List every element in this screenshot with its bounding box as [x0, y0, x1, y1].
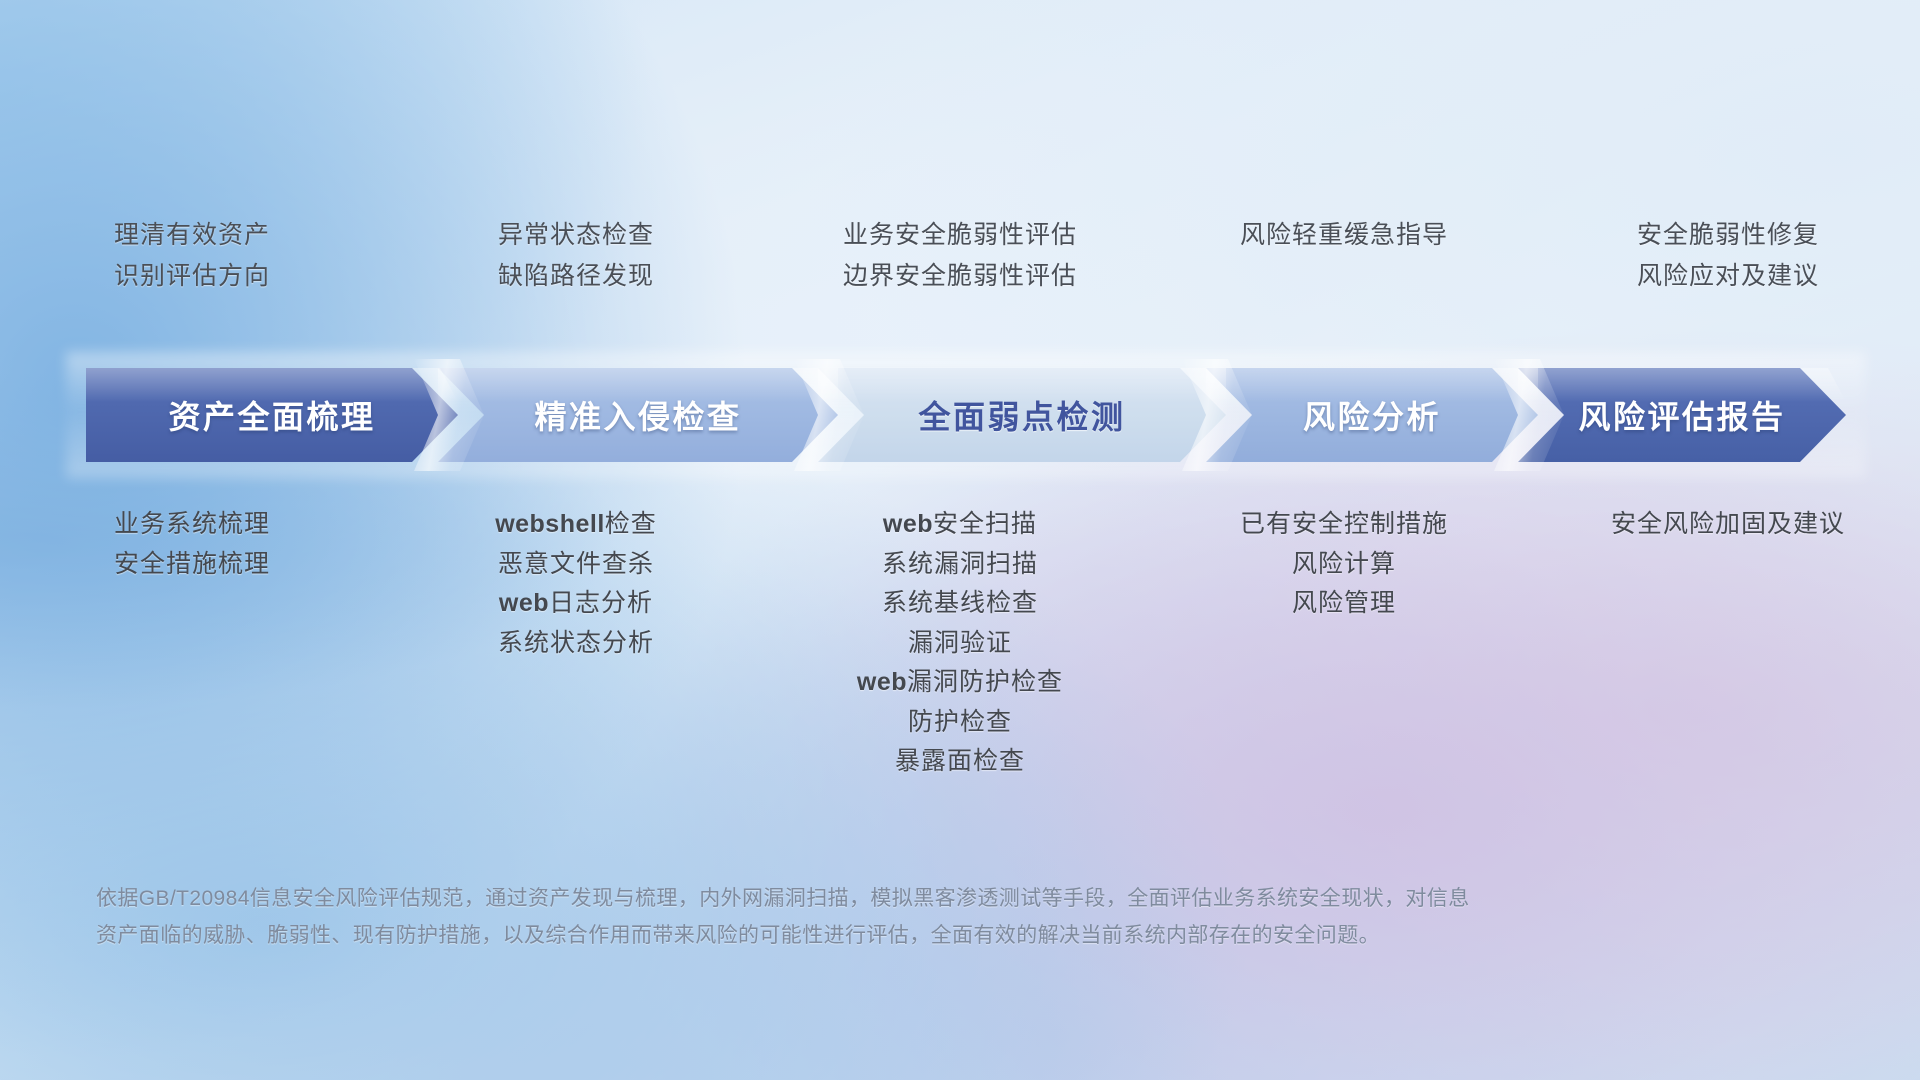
top-item: 异常状态检查 [498, 215, 654, 256]
stage-label: 风险分析 [1303, 392, 1441, 438]
bottom-col-5: 安全风险加固及建议 [1536, 505, 1920, 545]
top-label-row: 理清有效资产 识别评估方向 异常状态检查 缺陷路径发现 业务安全脆弱性评估 边界… [0, 215, 1920, 315]
stage-chevron-2[interactable]: 精准入侵检查 [438, 368, 838, 462]
top-col-3: 业务安全脆弱性评估 边界安全脆弱性评估 [768, 215, 1152, 315]
stage-label: 资产全面梳理 [168, 392, 375, 438]
stage-label: 风险评估报告 [1578, 392, 1785, 438]
top-col-1: 理清有效资产 识别评估方向 [0, 215, 384, 315]
top-item: 边界安全脆弱性评估 [843, 256, 1077, 297]
bottom-item: 已有安全控制措施 [1240, 505, 1448, 545]
stage-chevron-1[interactable]: 资产全面梳理 [86, 368, 458, 462]
stage-chevron-band: 资产全面梳理 精准入侵检查 全面弱点检测 风险分析 风险评估报告 [86, 368, 1846, 462]
bottom-item: 风险计算 [1292, 545, 1396, 585]
bottom-item: 安全措施梳理 [114, 545, 270, 585]
stage-label: 精准入侵检查 [534, 392, 741, 438]
top-item: 识别评估方向 [114, 256, 270, 297]
bottom-item: 安全风险加固及建议 [1611, 505, 1845, 545]
bottom-item: web漏洞防护检查 [857, 663, 1063, 703]
top-item: 理清有效资产 [114, 215, 270, 256]
bottom-item: 系统状态分析 [498, 624, 654, 664]
bottom-item: web安全扫描 [883, 505, 1037, 545]
bottom-item-prefix: web [499, 589, 549, 617]
bottom-item: 系统基线检查 [882, 584, 1038, 624]
footer-line-1: 依据GB/T20984信息安全风险评估规范，通过资产发现与梳理，内外网漏洞扫描，… [96, 880, 1656, 917]
bottom-item-prefix: webshell [495, 510, 605, 538]
top-item: 安全脆弱性修复 [1637, 215, 1819, 256]
stage-label: 全面弱点检测 [918, 392, 1125, 438]
footer-line-2: 资产面临的威胁、脆弱性、现有防护措施，以及综合作用而带来风险的可能性进行评估，全… [96, 917, 1656, 954]
top-col-4: 风险轻重缓急指导 [1152, 215, 1536, 315]
bottom-item: 恶意文件查杀 [498, 545, 654, 585]
diagram-canvas: 理清有效资产 识别评估方向 异常状态检查 缺陷路径发现 业务安全脆弱性评估 边界… [0, 0, 1920, 1080]
stage-chevron-5[interactable]: 风险评估报告 [1518, 368, 1846, 462]
top-item: 业务安全脆弱性评估 [843, 215, 1077, 256]
bottom-item: 暴露面检查 [895, 742, 1025, 782]
top-col-5: 安全脆弱性修复 风险应对及建议 [1536, 215, 1920, 315]
top-item: 风险轻重缓急指导 [1240, 215, 1448, 256]
bottom-item: 业务系统梳理 [114, 505, 270, 545]
bottom-item: web日志分析 [499, 584, 653, 624]
stage-chevron-3[interactable]: 全面弱点检测 [818, 368, 1226, 462]
bottom-item: 风险管理 [1292, 584, 1396, 624]
bottom-item: webshell检查 [495, 505, 657, 545]
top-col-2: 异常状态检查 缺陷路径发现 [384, 215, 768, 315]
bottom-col-3: web安全扫描系统漏洞扫描系统基线检查漏洞验证web漏洞防护检查防护检查暴露面检… [768, 505, 1152, 782]
footer-note: 依据GB/T20984信息安全风险评估规范，通过资产发现与梳理，内外网漏洞扫描，… [96, 880, 1656, 955]
stage-chevron-4[interactable]: 风险分析 [1206, 368, 1538, 462]
bottom-col-2: webshell检查恶意文件查杀web日志分析系统状态分析 [384, 505, 768, 663]
top-item: 风险应对及建议 [1637, 256, 1819, 297]
bottom-item-prefix: web [883, 510, 933, 538]
bottom-label-row: 业务系统梳理安全措施梳理 webshell检查恶意文件查杀web日志分析系统状态… [0, 505, 1920, 782]
bottom-item-prefix: web [857, 668, 907, 696]
bottom-item: 漏洞验证 [908, 624, 1012, 664]
top-item: 缺陷路径发现 [498, 256, 654, 297]
bottom-item: 系统漏洞扫描 [882, 545, 1038, 585]
bottom-item: 防护检查 [908, 703, 1012, 743]
bottom-col-4: 已有安全控制措施风险计算风险管理 [1152, 505, 1536, 624]
bottom-col-1: 业务系统梳理安全措施梳理 [0, 505, 384, 584]
